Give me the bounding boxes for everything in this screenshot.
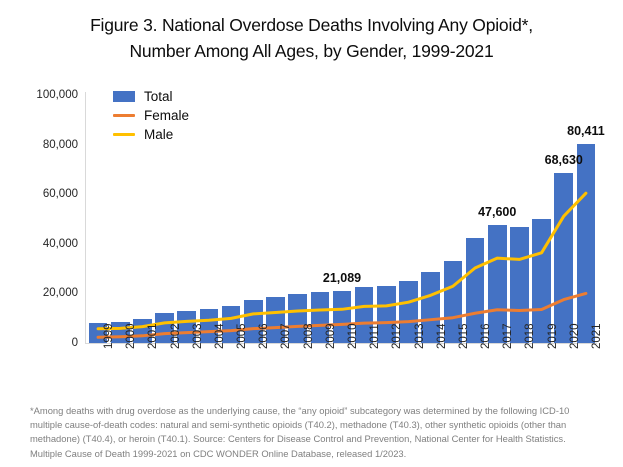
x-tick-2011: 2011 <box>369 324 381 349</box>
x-tick-2012: 2012 <box>391 323 403 349</box>
x-tick-2006: 2006 <box>258 323 270 349</box>
x-tick-2007: 2007 <box>280 323 292 349</box>
x-tick-2008: 2008 <box>303 323 315 349</box>
y-tick-20000: 20,000 <box>6 287 78 299</box>
footnote-line-3: methadone) (T40.4), or heroin (T40.1). S… <box>30 432 602 446</box>
x-tick-2015: 2015 <box>458 323 470 349</box>
x-tick-2000: 2000 <box>125 323 137 349</box>
chart-legend: TotalFemaleMale <box>113 88 233 145</box>
x-tick-2002: 2002 <box>170 323 182 349</box>
x-tick-2013: 2013 <box>414 323 426 349</box>
data-label-2010: 21,089 <box>323 271 361 285</box>
x-tick-2019: 2019 <box>547 323 559 349</box>
y-tick-100000: 100,000 <box>6 89 78 101</box>
footnote-line-2: multiple cause-of-death codes: natural a… <box>30 418 602 432</box>
footnote: *Among deaths with drug overdose as the … <box>30 404 602 461</box>
y-axis-line <box>85 92 86 344</box>
legend-swatch-female-icon <box>113 114 135 117</box>
x-tick-2005: 2005 <box>236 323 248 349</box>
x-tick-2010: 2010 <box>347 323 359 349</box>
title-line-1: Figure 3. National Overdose Deaths Invol… <box>28 12 595 38</box>
title-line-2: Number Among All Ages, by Gender, 1999-2… <box>28 38 595 64</box>
x-tick-2014: 2014 <box>436 323 448 349</box>
legend-item-male[interactable]: Male <box>113 126 233 143</box>
legend-item-total[interactable]: Total <box>113 88 233 105</box>
data-label-2020: 68,630 <box>545 153 583 167</box>
x-tick-2018: 2018 <box>524 323 536 349</box>
chart-container: 020,00040,00060,00080,000100,000 21,0894… <box>0 78 623 398</box>
x-tick-2001: 2001 <box>147 323 159 349</box>
footnote-line-4: Multiple Cause of Death 1999-2021 on CDC… <box>30 447 602 461</box>
x-tick-2021: 2021 <box>591 323 603 349</box>
x-tick-2020: 2020 <box>569 323 581 349</box>
legend-label-total: Total <box>144 89 173 104</box>
legend-label-male: Male <box>144 127 173 142</box>
y-tick-40000: 40,000 <box>6 238 78 250</box>
x-tick-2017: 2017 <box>502 323 514 349</box>
y-tick-60000: 60,000 <box>6 188 78 200</box>
x-tick-2003: 2003 <box>192 323 204 349</box>
x-tick-2016: 2016 <box>480 323 492 349</box>
legend-item-female[interactable]: Female <box>113 107 233 124</box>
y-tick-0: 0 <box>6 337 78 349</box>
x-tick-2009: 2009 <box>325 323 337 349</box>
footnote-line-1: *Among deaths with drug overdose as the … <box>30 404 602 418</box>
legend-swatch-male-icon <box>113 133 135 136</box>
legend-label-female: Female <box>144 108 189 123</box>
x-tick-2004: 2004 <box>214 323 226 349</box>
data-label-2017: 47,600 <box>478 205 516 219</box>
y-tick-80000: 80,000 <box>6 139 78 151</box>
data-label-2021: 80,411 <box>567 124 605 138</box>
page-title: Figure 3. National Overdose Deaths Invol… <box>0 0 623 64</box>
x-tick-1999: 1999 <box>103 323 115 349</box>
legend-swatch-total-icon <box>113 91 135 102</box>
